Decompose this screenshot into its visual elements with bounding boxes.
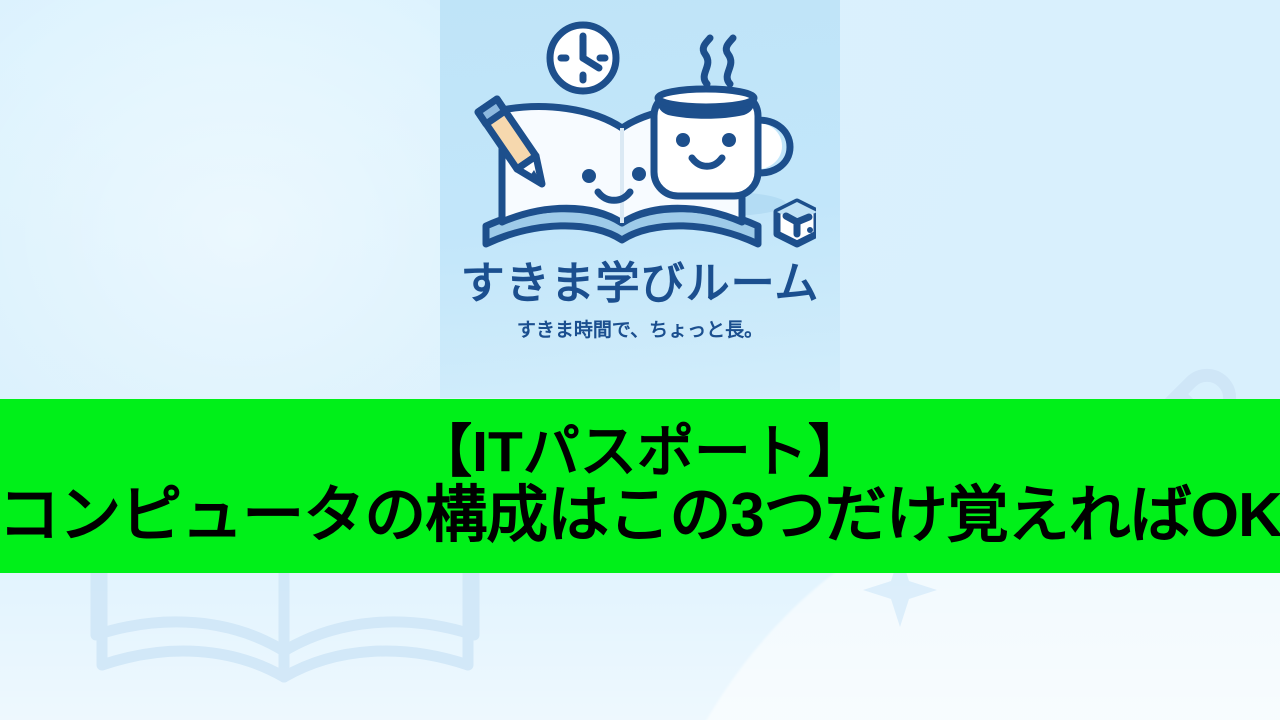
caption-banner: 【ITパスポート】 コンピュータの構成はこの3つだけ覚えればOK: [0, 399, 1280, 573]
caption-line-1: 【ITパスポート】: [415, 423, 865, 482]
clock-icon: [550, 25, 616, 91]
steam-lines: [703, 38, 733, 84]
logo-wordmark: すきま学びルーム: [440, 262, 840, 306]
caption-line-2: コンピュータの構成はこの3つだけ覚えればOK: [0, 484, 1280, 548]
logo-tagline: すきま時間で、ちょっと長。: [440, 321, 840, 340]
open-book-watermark: [72, 565, 502, 720]
book-mug-clock-illustration: .nv { stroke:#1d4f8c; stroke-width:7; fi…: [464, 16, 816, 266]
logo-card: .nv { stroke:#1d4f8c; stroke-width:7; fi…: [440, 0, 840, 398]
hex-gear-icon: [777, 202, 816, 244]
thumbnail-canvas: .nv { stroke:#1d4f8c; stroke-width:7; fi…: [0, 0, 1280, 720]
coffee-mug-character: [654, 89, 790, 196]
